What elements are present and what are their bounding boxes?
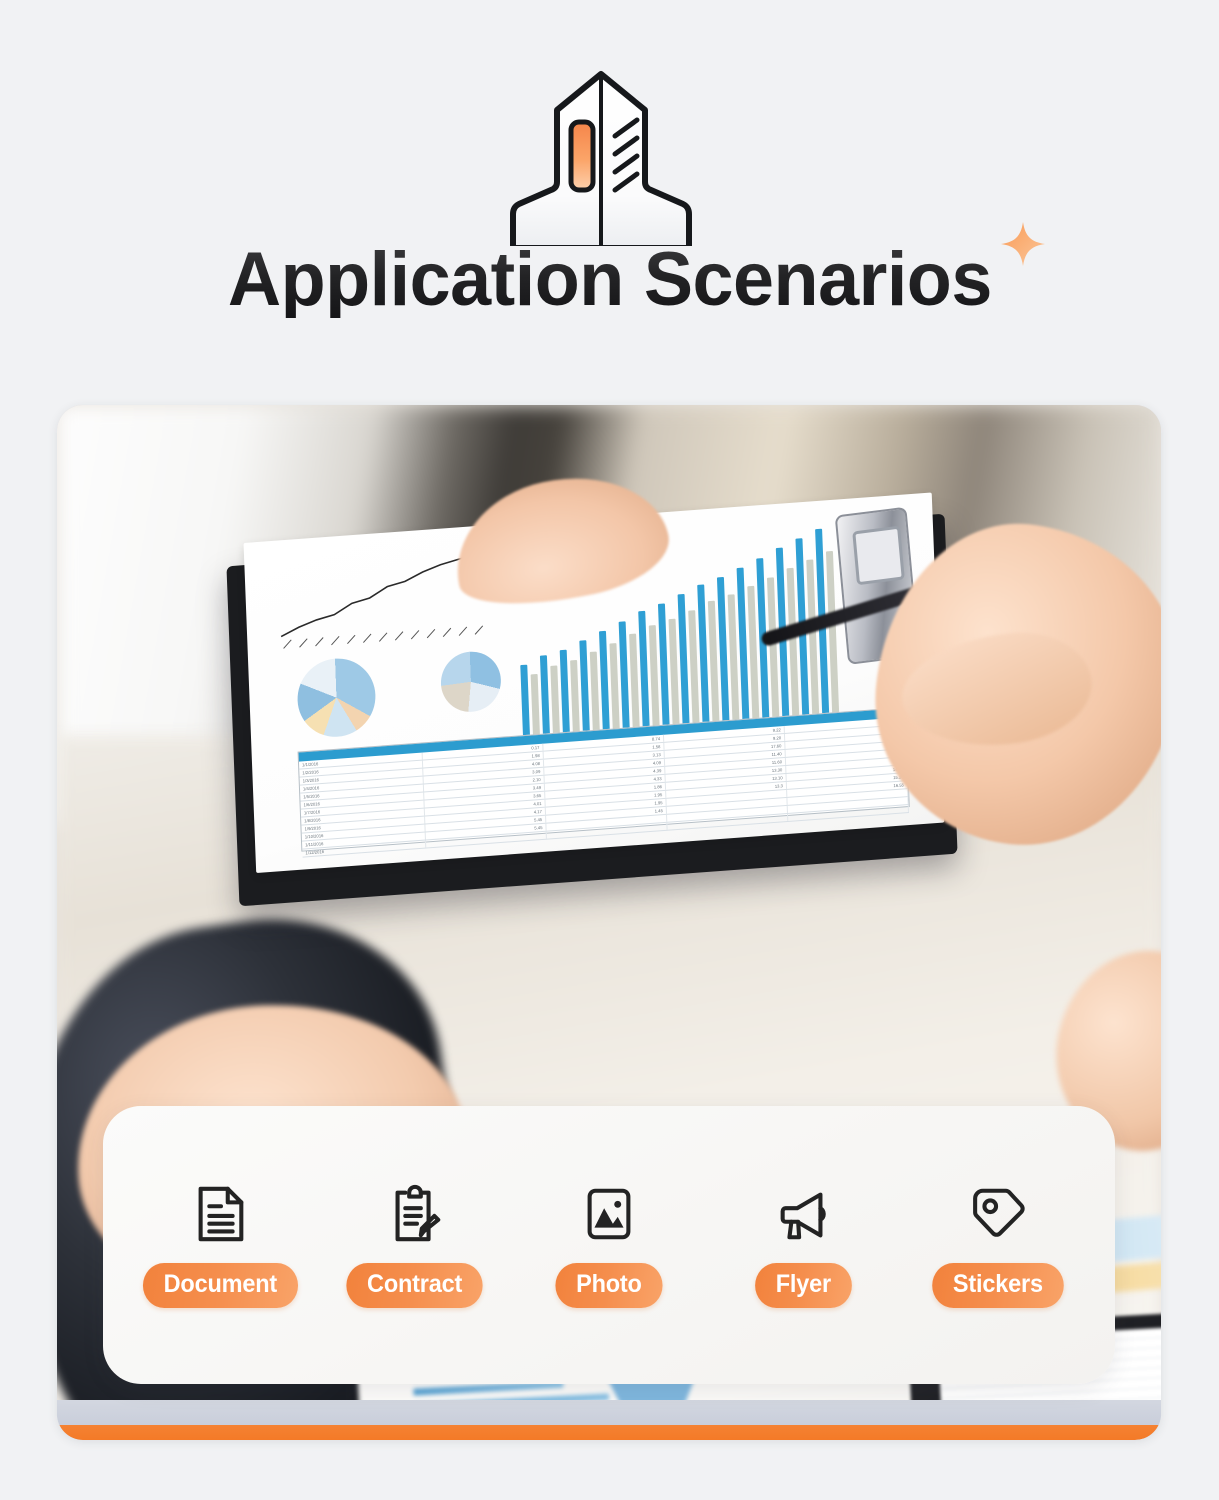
table-rows: 1/1/20160.178.749.228.501/2/20161.981.58… <box>299 717 909 858</box>
feature-item-flyer[interactable]: Flyer <box>720 1183 886 1308</box>
report-data-table: 1/1/20160.178.749.228.501/2/20161.981.58… <box>298 707 910 852</box>
page-header: Application Scenarios <box>0 0 1219 400</box>
report-bar-grey <box>629 634 640 735</box>
page-title: Application Scenarios <box>227 242 991 318</box>
contract-clipboard-icon <box>384 1183 446 1245</box>
feature-item-contract[interactable]: Contract <box>331 1183 497 1308</box>
feature-item-stickers[interactable]: Stickers <box>915 1183 1081 1308</box>
report-pie-chart-1 <box>296 656 377 740</box>
scenario-feature-card: Document Contract <box>103 1106 1115 1384</box>
report-bar-grey <box>550 665 560 741</box>
megaphone-icon <box>772 1183 834 1245</box>
price-tag-icon <box>967 1183 1029 1245</box>
report-bar-grey <box>609 643 620 737</box>
photo-image-icon <box>578 1183 640 1245</box>
report-bar-grey <box>669 618 680 732</box>
application-scenarios-page: Application Scenarios <box>0 0 1219 1500</box>
report-bar-blue <box>599 631 610 738</box>
report-bar-grey <box>649 625 660 733</box>
feature-badge-photo[interactable]: Photo <box>555 1263 662 1308</box>
feature-item-photo[interactable]: Photo <box>526 1183 692 1308</box>
report-bar-grey <box>590 651 600 738</box>
report-bar-blue <box>579 640 590 739</box>
document-icon <box>189 1183 251 1245</box>
feature-badge-document[interactable]: Document <box>143 1263 298 1308</box>
report-bar-blue <box>540 655 550 741</box>
feature-badge-stickers[interactable]: Stickers <box>932 1263 1063 1308</box>
sparkle-star-icon <box>999 220 1047 268</box>
feature-item-document[interactable]: Document <box>137 1183 303 1308</box>
report-bar-blue <box>520 665 530 743</box>
report-bar-grey <box>531 674 541 743</box>
scenario-feature-list: Document Contract <box>103 1106 1115 1384</box>
report-bar-blue <box>560 650 570 740</box>
building-tower-icon <box>497 66 707 246</box>
report-bar-grey <box>570 660 580 740</box>
report-pie-chart-2 <box>440 650 502 714</box>
photo-accent-footer <box>57 1400 1161 1440</box>
feature-badge-flyer[interactable]: Flyer <box>755 1263 852 1308</box>
page-title-row: Application Scenarios <box>0 242 1219 318</box>
feature-badge-contract[interactable]: Contract <box>346 1263 482 1308</box>
